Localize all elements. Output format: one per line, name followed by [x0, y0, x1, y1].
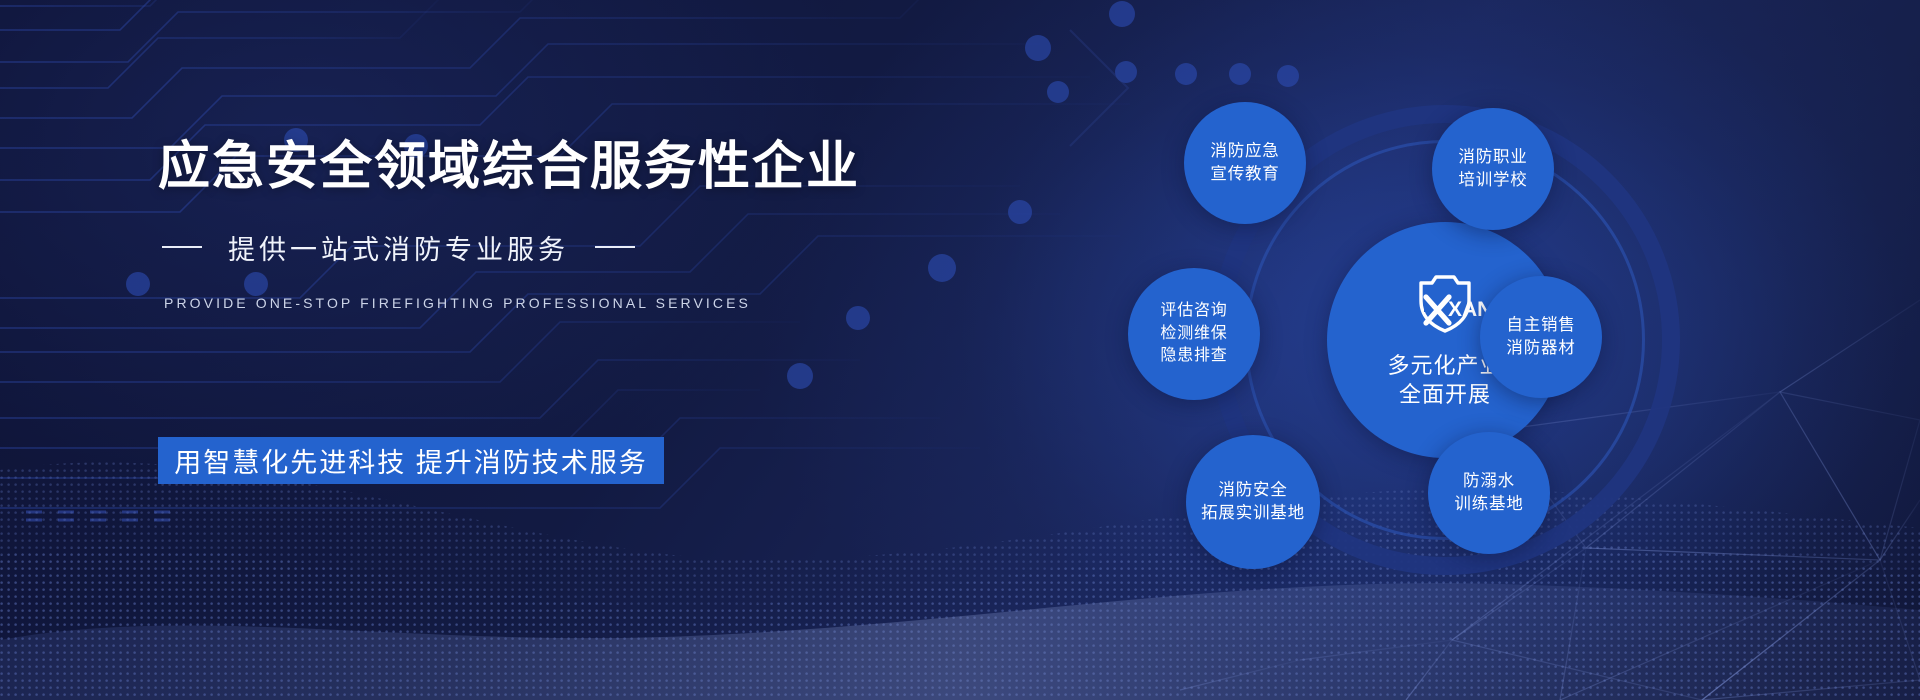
service-node-line2: 消防器材 [1506, 337, 1575, 360]
page-subtitle: 提供一站式消防专业服务 [228, 228, 569, 267]
service-node-line2: 宣传教育 [1210, 163, 1279, 186]
service-node-top-right[interactable]: 消防职业 培训学校 [1432, 108, 1554, 230]
shield-logo-icon: XAN [1402, 271, 1488, 346]
center-node-line2: 全面开展 [1399, 381, 1491, 409]
service-node-line2: 拓展实训基地 [1201, 502, 1305, 525]
service-node-bottom-right[interactable]: 防溺水 训练基地 [1428, 432, 1550, 554]
cta-banner[interactable]: 用智慧化先进科技 提升消防技术服务 [158, 437, 664, 484]
english-subtitle: PROVIDE ONE-STOP FIREFIGHTING PROFESSION… [164, 295, 878, 311]
service-node-line1: 消防职业 [1458, 146, 1527, 169]
service-node-top-left[interactable]: 消防应急 宣传教育 [1184, 102, 1306, 224]
service-node-line2: 检测维保 [1160, 323, 1227, 346]
hero-copy: 应急安全领域综合服务性企业 提供一站式消防专业服务 PROVIDE ONE-ST… [158, 138, 878, 311]
service-node-line1: 消防应急 [1210, 140, 1279, 163]
service-node-line2: 培训学校 [1458, 169, 1527, 192]
service-node-line2: 训练基地 [1454, 493, 1523, 516]
services-orbit-diagram: XAN 多元化产业 全面开展 消防应急 宣传教育 消防职业 培训学校 评估咨询 … [1160, 80, 1720, 610]
rule-right [595, 246, 635, 248]
rule-left [162, 246, 202, 248]
subtitle-row: 提供一站式消防专业服务 [162, 228, 878, 267]
service-node-line1: 评估咨询 [1160, 300, 1227, 323]
service-node-line1: 防溺水 [1463, 470, 1515, 493]
service-node-line1: 自主销售 [1506, 314, 1575, 337]
service-node-left[interactable]: 评估咨询 检测维保 隐患排查 [1128, 268, 1260, 400]
hero-banner: 应急安全领域综合服务性企业 提供一站式消防专业服务 PROVIDE ONE-ST… [0, 0, 1920, 700]
service-node-line3: 隐患排查 [1160, 345, 1227, 368]
service-node-right[interactable]: 自主销售 消防器材 [1480, 276, 1602, 398]
service-node-line1: 消防安全 [1218, 479, 1287, 502]
service-node-bottom-left[interactable]: 消防安全 拓展实训基地 [1186, 435, 1320, 569]
page-title: 应急安全领域综合服务性企业 [158, 138, 878, 198]
cta-banner-label: 用智慧化先进科技 提升消防技术服务 [174, 441, 648, 480]
